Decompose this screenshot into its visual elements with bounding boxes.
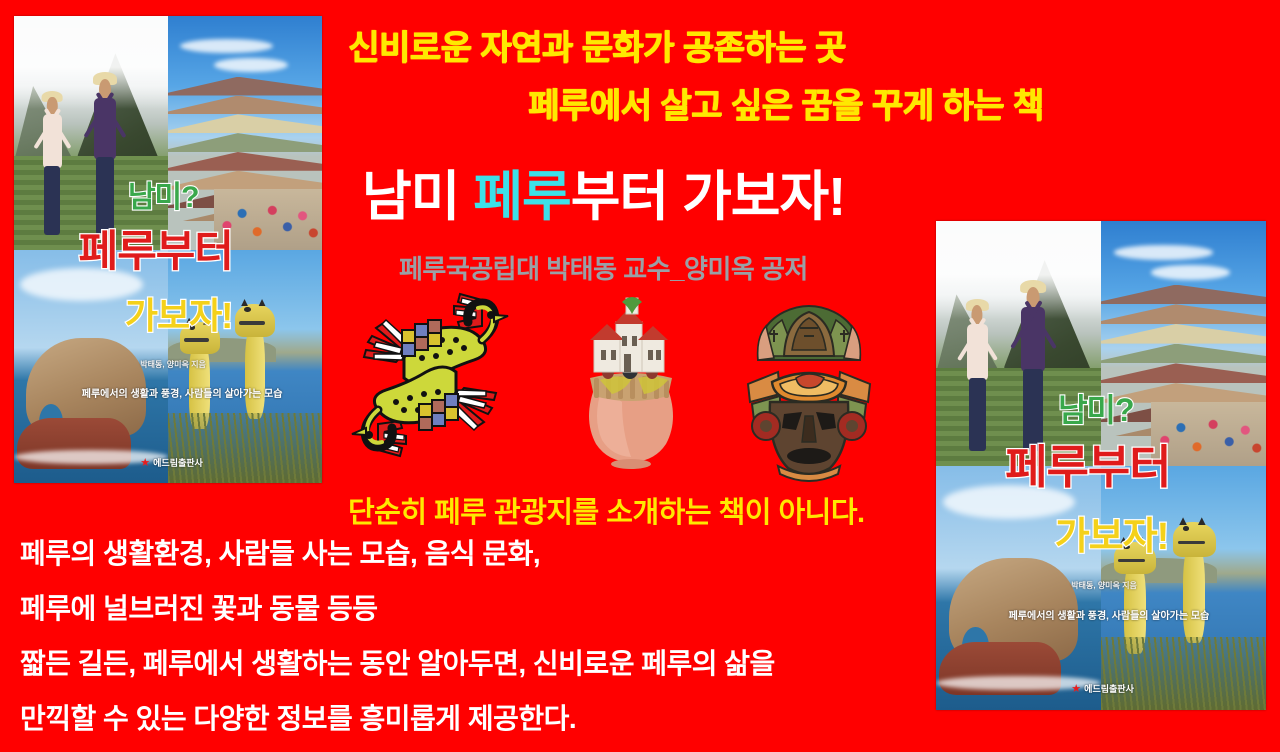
main-title: 남미 페루부터 가보자! [362,152,845,231]
traveler-woman-figure [956,299,999,451]
cover-photo-grid [936,221,1266,710]
cover-photo-rainbow-mountain [1101,221,1266,466]
cover-photo-uros-reed-boats [1101,466,1266,711]
main-title-part-1: 남미 [362,167,473,227]
traveler-man-figure [1009,280,1059,451]
cover-photo-machu-picchu-couple [936,221,1101,466]
main-title-part-3: 부터 가보자! [571,167,845,227]
paragraph-line: 페루에 널브러진 꽃과 동물 등등 [20,587,920,627]
poster-canvas: 남미? 페루부터 가보자! 박태동, 양미옥 지음 페루에서의 생활과 풍경, … [0,0,1280,726]
paragraph-line: 만끽할 수 있는 다양한 정보를 흥미롭게 제공한다. [20,697,920,737]
description-paragraph: 페루의 생활환경, 사람들 사는 모습, 음식 문화, 페루에 널브러진 꽃과 … [20,532,920,752]
cover-photo-rainbow-mountain [168,16,322,250]
paragraph-line: 짧든 길든, 페루에서 생활하는 동안 알아두면, 신비로운 페루의 삶을 [20,642,920,682]
main-title-part-2: 페루 [473,167,570,227]
mid-caption: 단순히 페루 관광지를 소개하는 책이 아니다. [348,489,865,531]
pucara-church-vessel-icon [556,292,706,472]
cover-photo-machu-picchu-couple [14,16,168,250]
reed-grass [1101,637,1266,710]
tourist-crowd [214,189,322,250]
traveler-man-figure [82,72,128,235]
book-cover-right[interactable]: 남미? 페루부터 가보자! 박태동, 양미옥 지음 페루에서의 생활과 풍경, … [936,221,1266,710]
peruvian-bird-textile-icon [342,282,518,468]
cover-photo-paracas-rock [936,466,1101,711]
author-credit-line: 페루국공립대 박태동 교수_양미옥 공저 [399,249,808,286]
tourist-crowd [1151,402,1267,466]
cover-photo-grid [14,16,322,483]
paragraph-line: 페루의 생활환경, 사람들 사는 모습, 음식 문화, [20,532,920,572]
peruvian-ceremonial-mask-icon [744,298,874,482]
headline-line-1: 신비로운 자연과 문화가 공존하는 곳 [348,20,845,69]
headline-line-2: 페루에서 살고 싶은 꿈을 꾸게 하는 책 [528,78,1043,127]
traveler-woman-figure [32,91,72,236]
reed-grass [168,413,322,483]
cover-photo-paracas-rock [14,250,168,484]
book-cover-left[interactable]: 남미? 페루부터 가보자! 박태동, 양미옥 지음 페루에서의 생활과 풍경, … [14,16,322,483]
cover-photo-uros-reed-boats [168,250,322,484]
